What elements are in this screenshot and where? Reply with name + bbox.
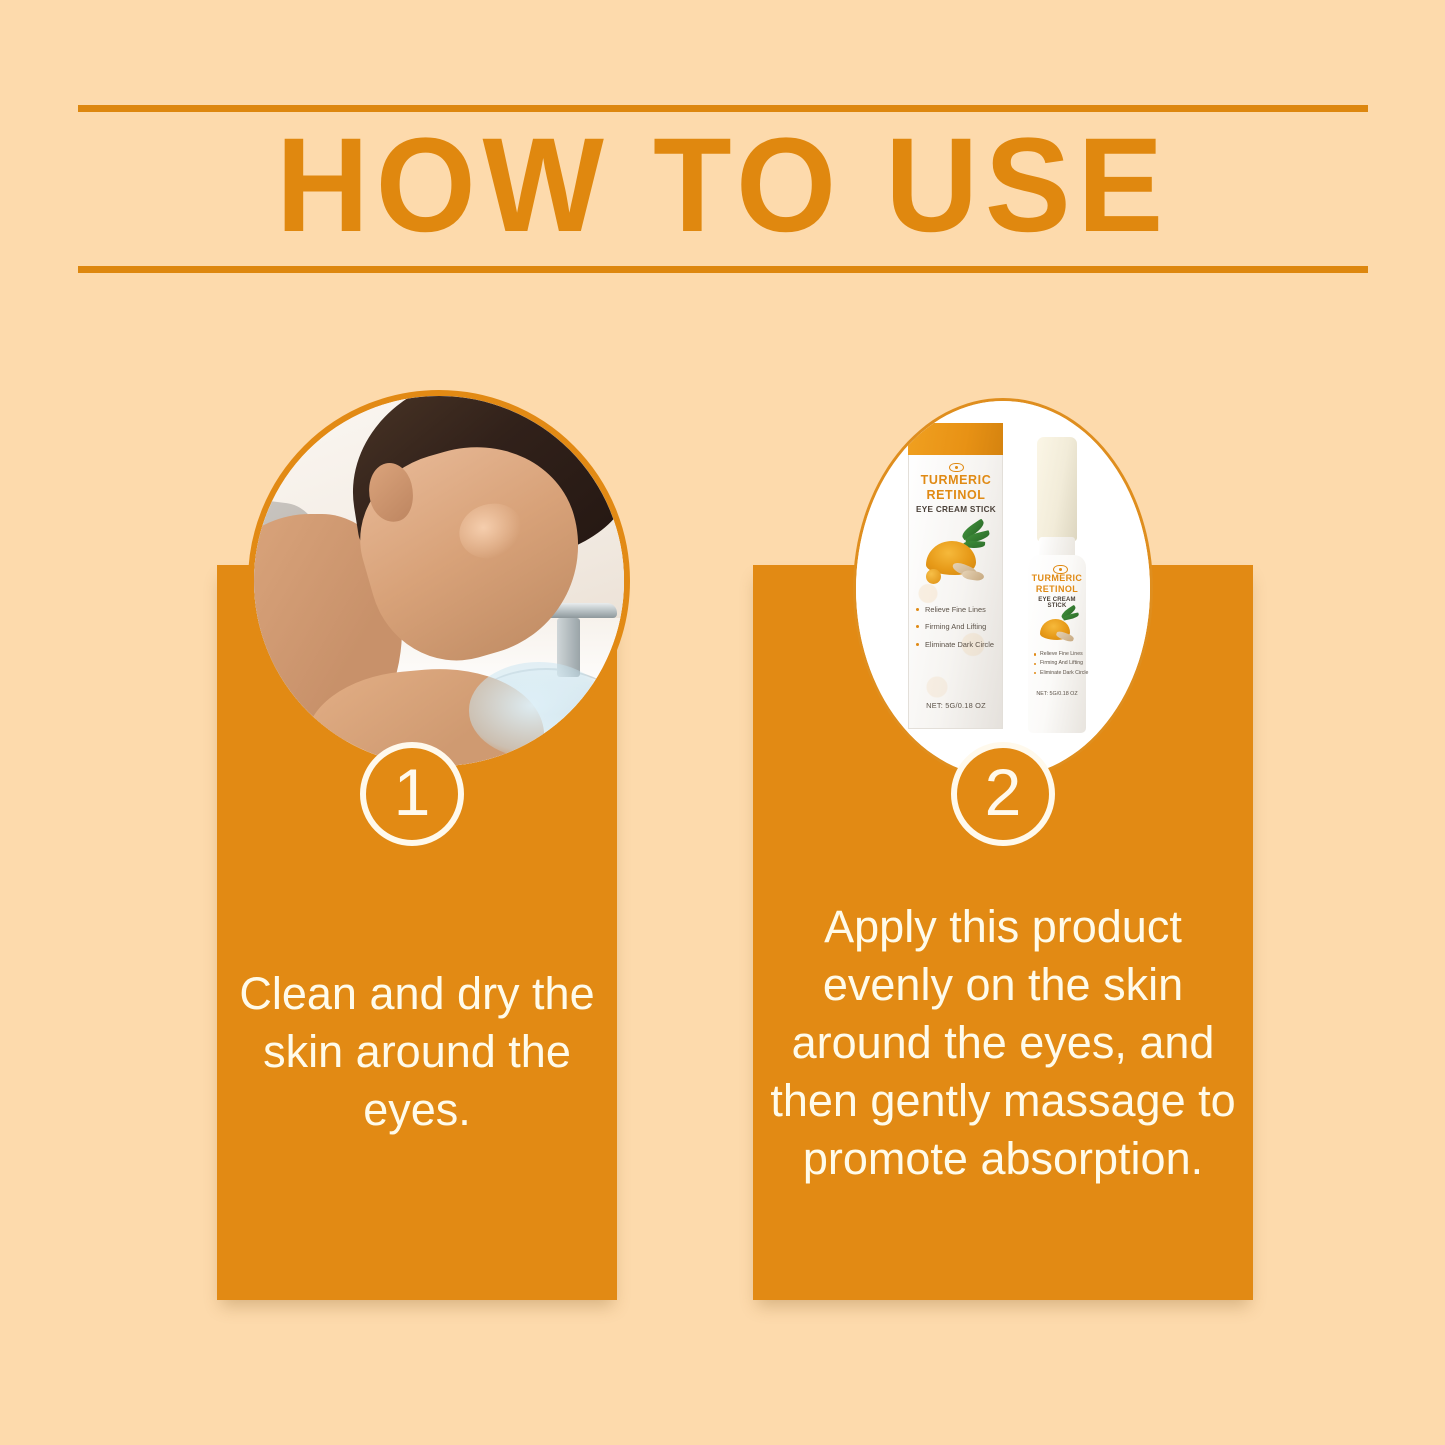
washing-face-illustration xyxy=(254,396,624,766)
step-1-photo xyxy=(248,390,630,772)
stick-benefit-item: Firming And Lifting xyxy=(1034,660,1084,667)
stick-benefit-item: Relieve Fine Lines xyxy=(1034,651,1084,658)
eye-cream-stick: TURMERIC RETINOL EYE CREAM STICK Relieve… xyxy=(1028,437,1086,733)
step-caption-1: Clean and dry the skin around the eyes. xyxy=(225,965,609,1139)
cheek-highlight xyxy=(453,496,530,566)
water-splash xyxy=(469,662,610,758)
stick-turmeric-illustration xyxy=(1036,609,1082,649)
carton-benefit-item: Relieve Fine Lines xyxy=(916,605,1000,614)
stick-benefit-list: Relieve Fine Lines Firming And Lifting E… xyxy=(1034,651,1084,679)
carton-brand-name: TURMERIC RETINOL xyxy=(912,473,1000,503)
how-to-use-infographic: { "header": { "title": "HOW TO USE" }, "… xyxy=(0,0,1445,1445)
step-2-product-image: TURMERIC RETINOL EYE CREAM STICK Relieve… xyxy=(853,398,1153,780)
stick-benefit-item: Eliminate Dark Circle xyxy=(1034,670,1084,677)
product-illustration: TURMERIC RETINOL EYE CREAM STICK Relieve… xyxy=(856,401,1150,777)
stick-brand-line-1: TURMERIC xyxy=(1032,573,1083,583)
carton-subtitle: EYE CREAM STICK xyxy=(912,505,1000,514)
stick-cap xyxy=(1037,437,1077,541)
turmeric-ball xyxy=(926,569,941,584)
carton-orange-cap xyxy=(908,423,1003,455)
stick-brand-line-2: RETINOL xyxy=(1036,584,1078,594)
step-badge-1: 1 xyxy=(360,742,464,846)
turmeric-root xyxy=(1055,630,1074,643)
carton-benefit-item: Eliminate Dark Circle xyxy=(916,640,1000,649)
stick-net-weight: NET: 5G/0.18 OZ xyxy=(1030,691,1084,697)
eye-icon xyxy=(949,463,964,472)
step-caption-2: Apply this product evenly on the skin ar… xyxy=(760,898,1246,1188)
turmeric-root xyxy=(961,570,984,582)
step-badge-2: 2 xyxy=(951,742,1055,846)
stick-brand-name: TURMERIC RETINOL xyxy=(1030,573,1084,595)
carton-net-weight: NET: 5G/0.18 OZ xyxy=(912,701,1000,710)
page-title: HOW TO USE xyxy=(104,106,1342,266)
carton-brand-line-2: RETINOL xyxy=(926,488,985,502)
carton-benefit-item: Firming And Lifting xyxy=(916,622,1000,631)
turmeric-root-illustration xyxy=(918,525,998,593)
header-rule-bottom xyxy=(78,266,1368,273)
carton-brand-line-1: TURMERIC xyxy=(921,473,992,487)
header: HOW TO USE xyxy=(78,100,1368,278)
carton-benefit-list: Relieve Fine Lines Firming And Lifting E… xyxy=(916,605,1000,657)
